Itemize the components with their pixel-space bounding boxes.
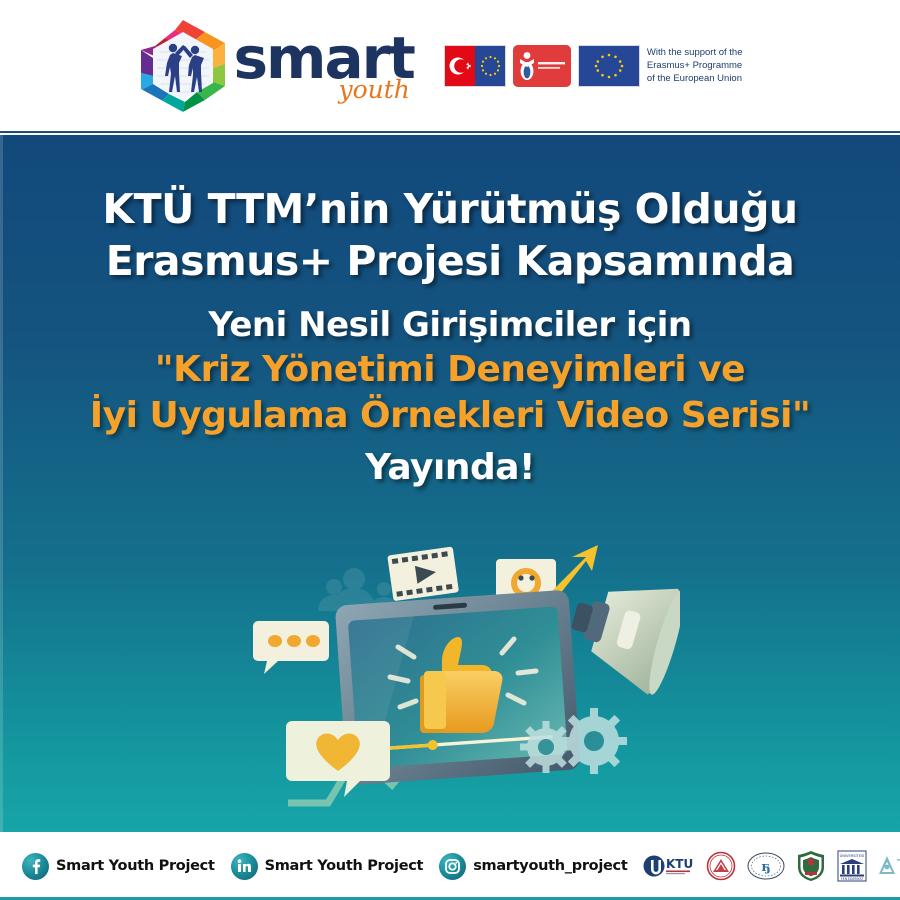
eu-flag-icon: [578, 45, 640, 87]
smart-youth-logo: smart youth: [137, 18, 413, 114]
social-handle: Smart Youth Project: [265, 858, 424, 874]
social-link-instagram[interactable]: smartyouth_project: [439, 853, 627, 880]
highlight-line-1: "Kriz Yönetimi Deneyimleri ve: [0, 347, 900, 393]
svg-text:ҕ: ҕ: [762, 860, 771, 875]
footer-bar: Smart Youth Project Smart Youth Project …: [0, 832, 900, 900]
social-link-facebook[interactable]: Smart Youth Project: [22, 853, 215, 880]
partner-logo-5: ÜNİVERSİTESİ FEN EDEBİYAT: [837, 849, 867, 883]
partner-logo-4: [796, 849, 826, 883]
eu-support-block: With the support of the Erasmus+ Program…: [444, 45, 743, 87]
partner-logo-3: ҕ: [747, 849, 785, 883]
svg-text:KTU: KTU: [666, 857, 693, 871]
eu-support-text: With the support of the Erasmus+ Program…: [647, 46, 743, 85]
svg-text:FEN EDEBİYAT: FEN EDEBİYAT: [841, 876, 863, 881]
header-bar: smart youth: [0, 0, 900, 133]
instagram-icon: [439, 853, 466, 880]
turkey-eu-flag-icon: [444, 45, 506, 87]
social-handle: smartyouth_project: [473, 858, 627, 874]
partner-logos: KTU ҕ: [643, 849, 900, 883]
social-handle: Smart Youth Project: [56, 858, 215, 874]
linkedin-icon: [231, 853, 258, 880]
svg-text:TU: TU: [896, 855, 900, 879]
social-links: Smart Youth Project Smart Youth Project …: [0, 853, 627, 880]
smart-youth-hexagon-icon: [137, 18, 229, 114]
social-link-linkedin[interactable]: Smart Youth Project: [231, 853, 424, 880]
highlight-line-2: İyi Uygulama Örnekleri Video Serisi": [0, 393, 900, 439]
atu-logo: TU: [878, 849, 900, 883]
title-block: KTÜ TTM’nin Yürütmüş Olduğu Erasmus+ Pro…: [0, 183, 900, 491]
subtitle-line-2: Yayında!: [0, 445, 900, 491]
main-panel: KTÜ TTM’nin Yürütmüş Olduğu Erasmus+ Pro…: [0, 135, 900, 832]
facebook-icon: [22, 853, 49, 880]
social-media-tablet-illustration: [250, 535, 680, 832]
turkish-national-agency-icon: [513, 45, 571, 87]
svg-text:ÜNİVERSİTESİ: ÜNİVERSİTESİ: [840, 853, 865, 858]
subtitle-line-1: Yeni Nesil Girişimciler için: [0, 303, 900, 347]
partner-logo-2: [706, 849, 736, 883]
title-line-1: KTÜ TTM’nin Yürütmüş Olduğu: [0, 183, 900, 235]
title-line-2: Erasmus+ Projesi Kapsamında: [0, 235, 900, 287]
poster-root: smart youth: [0, 0, 900, 900]
ktu-logo: KTU: [643, 849, 695, 883]
